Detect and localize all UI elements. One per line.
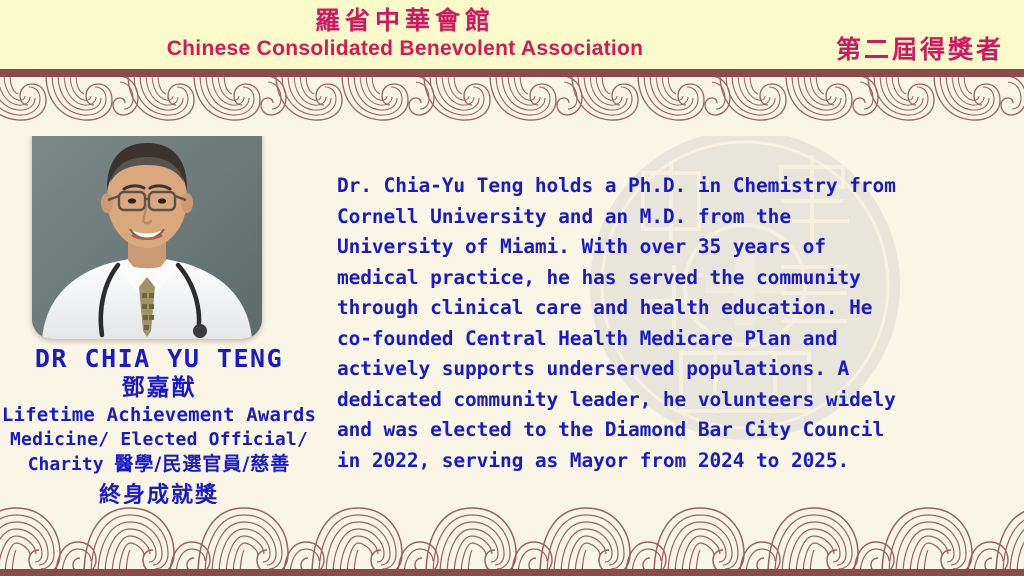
organization-title-block: 羅省中華會館 Chinese Consolidated Benevolent A… (0, 6, 810, 62)
award-categories-line2: Charity 醫學/民選官員/慈善 (0, 452, 318, 477)
award-categories-english-tail: Charity (28, 454, 104, 475)
org-title-chinese: 羅省中華會館 (0, 6, 810, 36)
award-slide: 羅省中華會館 Chinese Consolidated Benevolent A… (0, 0, 1024, 576)
edition-badge: 第二屆得獎者 (836, 30, 1004, 66)
bottom-wave-ornament-band (0, 504, 1024, 576)
honoree-biography: Dr. Chia-Yu Teng holds a Ph.D. in Chemis… (337, 171, 1009, 476)
header-divider-rule (0, 69, 1024, 74)
award-categories-line1: Medicine/ Elected Official/ (0, 427, 318, 452)
award-categories-chinese: 醫學/民選官員/慈善 (114, 453, 290, 475)
top-cloud-ornament-band (0, 74, 1024, 136)
award-name-english: Lifetime Achievement Awards (0, 403, 318, 427)
honoree-name-chinese: 鄧嘉猷 (0, 373, 318, 403)
org-title-english: Chinese Consolidated Benevolent Associat… (0, 36, 810, 62)
honoree-portrait (32, 117, 262, 339)
bottom-divider-rule (0, 569, 1024, 576)
honoree-name-english: DR CHIA YU TENG (0, 344, 318, 374)
honoree-caption: DR CHIA YU TENG 鄧嘉猷 Lifetime Achievement… (0, 344, 318, 510)
